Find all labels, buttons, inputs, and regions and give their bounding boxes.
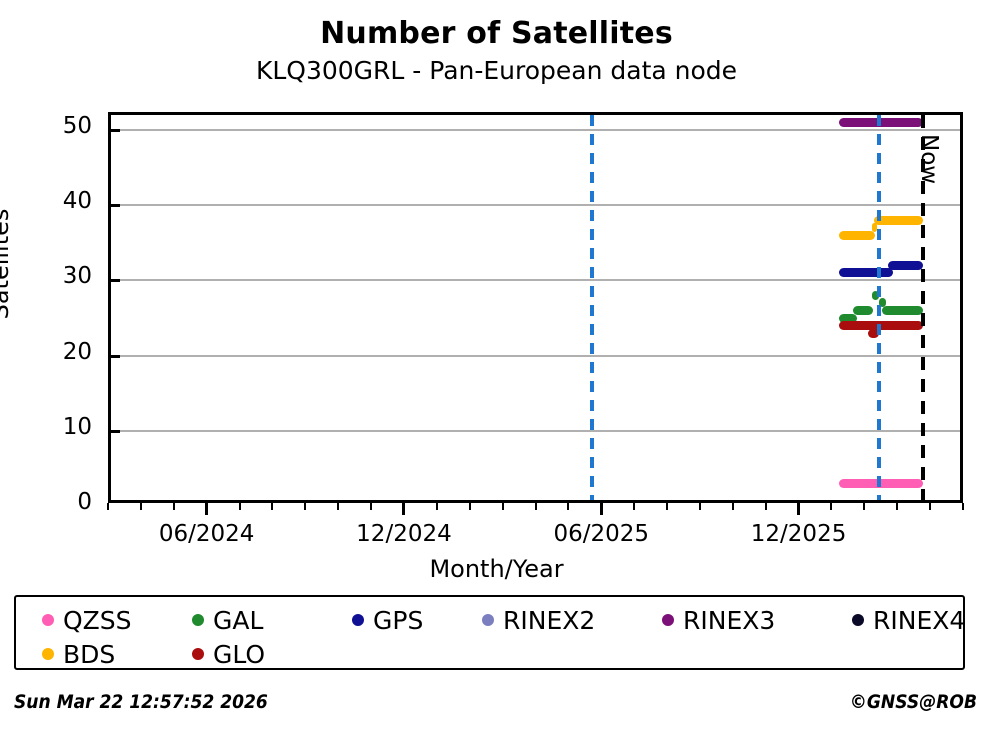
x-tick-2024-09: [304, 503, 306, 510]
gridline-y-40: [111, 204, 960, 206]
x-tick-label-12/2024: 12/2024: [324, 521, 484, 547]
legend-marker-rinex3-icon: [662, 614, 674, 626]
y-tick-label-30: 30: [50, 265, 92, 288]
legend-marker-rinex4-icon: [852, 614, 864, 626]
y-tick-50: [111, 129, 120, 132]
chart-legend: QZSSGALGPSRINEX2RINEX3RINEX4 BDSGLO: [14, 595, 965, 670]
y-tick-30: [111, 279, 120, 282]
x-tick-2025-02: [469, 503, 471, 510]
legend-label: GPS: [373, 608, 423, 633]
legend-marker-rinex2-icon: [482, 614, 494, 626]
now-label: Now: [916, 134, 942, 184]
legend-item-glo[interactable]: GLO: [192, 637, 265, 671]
x-tick-2025-04: [535, 503, 537, 510]
gridline-y-10: [111, 430, 960, 432]
plot-inner: [111, 115, 960, 500]
legend-row-1: QZSSGALGPSRINEX2RINEX3RINEX4: [16, 603, 963, 637]
x-tick-2025-01: [436, 503, 438, 510]
legend-marker-bds-icon: [42, 648, 54, 660]
x-tick-2025-06: [600, 503, 603, 515]
x-tick-2025-10: [732, 503, 734, 510]
y-tick-label-40: 40: [50, 190, 92, 213]
footer-timestamp: Sun Mar 22 12:57:52 2026: [14, 691, 268, 713]
legend-marker-glo-icon: [192, 648, 204, 660]
y-tick-40: [111, 204, 120, 207]
x-tick-2024-06: [205, 503, 208, 515]
x-tick-2024-03: [107, 503, 109, 510]
y-tick-20: [111, 355, 120, 358]
gridline-y-50: [111, 129, 960, 131]
legend-label: RINEX2: [503, 608, 595, 633]
x-tick-2026-01: [830, 503, 832, 510]
legend-marker-gps-icon: [352, 614, 364, 626]
data-segment-gal-1: [853, 306, 873, 315]
x-tick-2026-04: [929, 503, 931, 510]
x-tick-2024-07: [239, 503, 241, 510]
x-tick-2025-08: [666, 503, 668, 510]
legend-row-2: BDSGLO: [16, 637, 963, 671]
x-tick-label-06/2025: 06/2025: [521, 521, 681, 547]
legend-marker-gal-icon: [192, 614, 204, 626]
legend-label: RINEX4: [873, 608, 965, 633]
legend-item-bds[interactable]: BDS: [42, 637, 115, 671]
data-segment-bds-0: [839, 231, 875, 240]
y-tick-label-50: 50: [50, 115, 92, 138]
x-axis-label: Month/Year: [0, 555, 993, 583]
x-tick-2024-04: [140, 503, 142, 510]
y-tick-10: [111, 430, 120, 433]
footer-credit: ©GNSS@ROB: [850, 691, 977, 713]
x-tick-2024-11: [370, 503, 372, 510]
x-tick-2025-09: [699, 503, 701, 510]
y-tick-label-0: 0: [50, 491, 92, 514]
y-axis-label: Satellites: [0, 114, 14, 414]
legend-label: GAL: [213, 608, 263, 633]
y-tick-label-10: 10: [50, 416, 92, 439]
page-subtitle: KLQ300GRL - Pan-European data node: [0, 56, 993, 85]
legend-item-rinex2[interactable]: RINEX2: [482, 603, 595, 637]
legend-label: BDS: [63, 642, 115, 667]
gridline-y-30: [111, 279, 960, 281]
legend-label: GLO: [213, 642, 265, 667]
gridline-y-20: [111, 355, 960, 357]
legend-label: RINEX3: [683, 608, 775, 633]
x-tick-2025-12: [797, 503, 800, 515]
vline-marker-1: [590, 115, 594, 500]
legend-item-gal[interactable]: GAL: [192, 603, 263, 637]
vline-marker-2: [877, 115, 881, 500]
legend-item-rinex4[interactable]: RINEX4: [852, 603, 965, 637]
plot-area: [108, 112, 963, 503]
y-tick-label-20: 20: [50, 341, 92, 364]
x-tick-2025-07: [633, 503, 635, 510]
x-tick-2025-05: [567, 503, 569, 510]
legend-marker-qzss-icon: [42, 614, 54, 626]
page-title: Number of Satellites: [0, 16, 993, 51]
x-tick-2024-08: [271, 503, 273, 510]
data-segment-gps-1: [888, 261, 923, 270]
x-tick-2024-12: [402, 503, 405, 515]
data-segment-gal-4: [882, 306, 924, 315]
data-segment-gps-0: [839, 268, 893, 277]
legend-label: QZSS: [63, 608, 132, 633]
x-tick-2025-03: [502, 503, 504, 510]
legend-item-gps[interactable]: GPS: [352, 603, 423, 637]
legend-item-rinex3[interactable]: RINEX3: [662, 603, 775, 637]
x-tick-label-12/2025: 12/2025: [719, 521, 879, 547]
x-tick-2026-02: [863, 503, 865, 510]
x-tick-2024-10: [337, 503, 339, 510]
x-tick-2026-05: [962, 503, 964, 510]
x-tick-2026-03: [896, 503, 898, 510]
x-tick-2025-11: [765, 503, 767, 510]
legend-item-qzss[interactable]: QZSS: [42, 603, 132, 637]
x-tick-label-06/2024: 06/2024: [127, 521, 287, 547]
x-tick-2024-05: [173, 503, 175, 510]
